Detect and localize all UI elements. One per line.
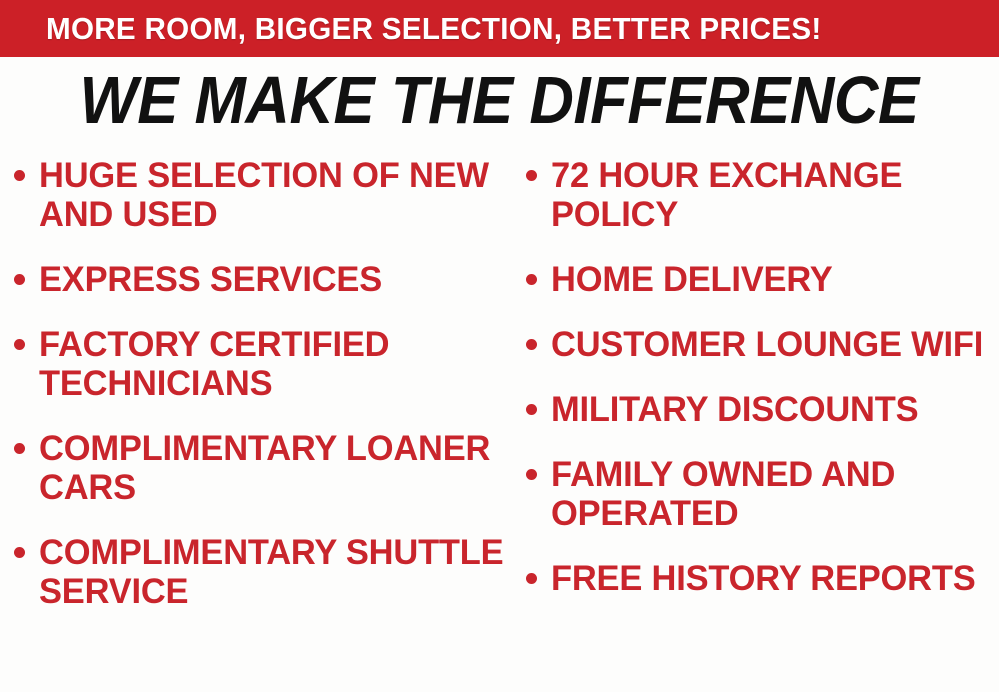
feature-label: CUSTOMER LOUNGE WIFI bbox=[551, 325, 983, 364]
list-item: HOME DELIVERY bbox=[526, 260, 999, 299]
feature-label: 72 HOUR EXCHANGE POLICY bbox=[551, 156, 992, 234]
list-item: EXPRESS SERVICES bbox=[14, 260, 512, 299]
bullet-dot-icon bbox=[14, 547, 25, 558]
list-item: 72 HOUR EXCHANGE POLICY bbox=[526, 156, 999, 234]
feature-label: COMPLIMENTARY LOANER CARS bbox=[39, 429, 505, 507]
feature-label: EXPRESS SERVICES bbox=[39, 260, 382, 299]
bullet-dot-icon bbox=[14, 443, 25, 454]
bullet-dot-icon bbox=[14, 339, 25, 350]
list-item: FAMILY OWNED AND OPERATED bbox=[526, 455, 999, 533]
list-item: FREE HISTORY REPORTS bbox=[526, 559, 999, 598]
list-item: HUGE SELECTION OF NEW AND USED bbox=[14, 156, 512, 234]
features-columns: HUGE SELECTION OF NEW AND USED EXPRESS S… bbox=[0, 156, 999, 692]
advertisement-banner: MORE ROOM, BIGGER SELECTION, BETTER PRIC… bbox=[0, 0, 999, 692]
bullet-dot-icon bbox=[526, 170, 537, 181]
headline-block: WE MAKE THE DIFFERENCE bbox=[0, 66, 999, 136]
features-column-left: HUGE SELECTION OF NEW AND USED EXPRESS S… bbox=[0, 156, 512, 637]
feature-label: FACTORY CERTIFIED TECHNICIANS bbox=[39, 325, 505, 403]
feature-label: COMPLIMENTARY SHUTTLE SERVICE bbox=[39, 533, 505, 611]
feature-label: FAMILY OWNED AND OPERATED bbox=[551, 455, 992, 533]
feature-label: HUGE SELECTION OF NEW AND USED bbox=[39, 156, 505, 234]
feature-label: MILITARY DISCOUNTS bbox=[551, 390, 918, 429]
list-item: COMPLIMENTARY LOANER CARS bbox=[14, 429, 512, 507]
feature-label: FREE HISTORY REPORTS bbox=[551, 559, 976, 598]
promo-banner-text: MORE ROOM, BIGGER SELECTION, BETTER PRIC… bbox=[46, 13, 822, 44]
list-item: MILITARY DISCOUNTS bbox=[526, 390, 999, 429]
bullet-dot-icon bbox=[526, 339, 537, 350]
list-item: COMPLIMENTARY SHUTTLE SERVICE bbox=[14, 533, 512, 611]
list-item: CUSTOMER LOUNGE WIFI bbox=[526, 325, 999, 364]
bullet-dot-icon bbox=[14, 274, 25, 285]
features-column-right: 72 HOUR EXCHANGE POLICY HOME DELIVERY CU… bbox=[512, 156, 999, 624]
bullet-dot-icon bbox=[526, 274, 537, 285]
bullet-dot-icon bbox=[526, 469, 537, 480]
feature-label: HOME DELIVERY bbox=[551, 260, 833, 299]
list-item: FACTORY CERTIFIED TECHNICIANS bbox=[14, 325, 512, 403]
page-title: WE MAKE THE DIFFERENCE bbox=[80, 66, 919, 136]
bullet-dot-icon bbox=[526, 404, 537, 415]
top-promo-banner: MORE ROOM, BIGGER SELECTION, BETTER PRIC… bbox=[0, 0, 999, 57]
bullet-dot-icon bbox=[14, 170, 25, 181]
bullet-dot-icon bbox=[526, 573, 537, 584]
